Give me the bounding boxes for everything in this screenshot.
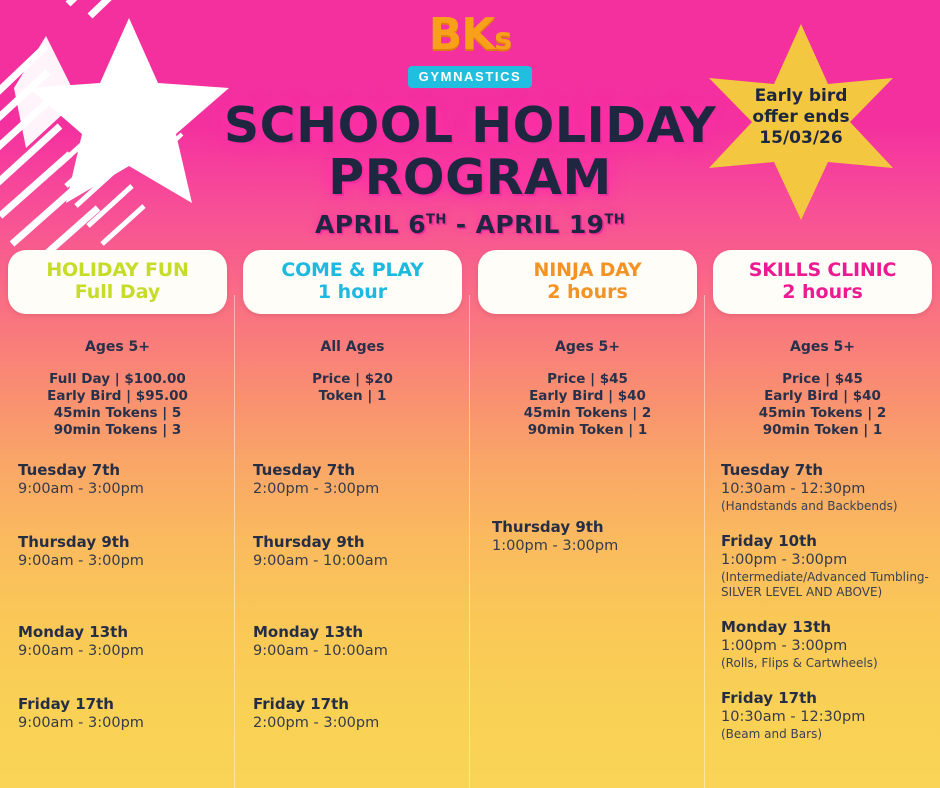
program-duration: 2 hours (719, 281, 926, 303)
session-schedule: Tuesday 7th10:30am - 12:30pm(Handstands … (713, 461, 932, 742)
session-date: Friday 17th (721, 689, 932, 708)
date-end-ordinal: TH (604, 213, 625, 228)
session-time: 2:00pm - 3:00pm (253, 480, 462, 499)
price-row: 45min Tokens | 2 (713, 405, 932, 422)
program-column: SKILLS CLINIC2 hoursAges 5+Price | $45Ea… (705, 250, 940, 788)
date-start: APRIL 6 (315, 210, 426, 239)
early-bird-line-3: 15/03/26 (706, 128, 896, 149)
session-date: Monday 13th (253, 623, 462, 642)
session-date: Thursday 9th (18, 533, 227, 552)
session-time: 1:00pm - 3:00pm (721, 637, 932, 656)
price-row: Price | $45 (713, 371, 932, 388)
pricing-block: Price | $20Token | 1 (243, 371, 462, 405)
poster-canvas: BKs GYMNASTICS SCHOOL HOLIDAY PROGRAM AP… (0, 0, 940, 788)
session-time: 1:00pm - 3:00pm (721, 551, 932, 570)
session-entry[interactable]: Tuesday 7th10:30am - 12:30pm(Handstands … (721, 461, 932, 514)
price-row: Early Bird | $95.00 (8, 388, 227, 405)
program-card-header[interactable]: COME & PLAY1 hour (243, 250, 462, 314)
session-time: 9:00am - 10:00am (253, 552, 462, 571)
program-title: HOLIDAY FUN (14, 259, 221, 281)
program-duration: 2 hours (484, 281, 691, 303)
logo-main-text: BK (429, 9, 495, 60)
session-time: 9:00am - 10:00am (253, 642, 462, 661)
session-entry[interactable]: Friday 10th1:00pm - 3:00pm(Intermediate/… (721, 532, 932, 600)
session-entry[interactable]: Tuesday 7th2:00pm - 3:00pm (253, 461, 462, 499)
session-note: (Beam and Bars) (721, 727, 932, 742)
session-entry[interactable]: Monday 13th1:00pm - 3:00pm(Rolls, Flips … (721, 618, 932, 671)
session-note: (Intermediate/Advanced Tumbling-SILVER L… (721, 570, 932, 600)
session-time: 9:00am - 3:00pm (18, 642, 227, 661)
pricing-block: Price | $45Early Bird | $4045min Tokens … (713, 371, 932, 439)
session-date: Tuesday 7th (721, 461, 932, 480)
session-time: 9:00am - 3:00pm (18, 714, 227, 733)
price-row: Token | 1 (243, 388, 462, 405)
age-requirement: All Ages (243, 339, 462, 355)
date-start-ordinal: TH (426, 213, 447, 228)
age-requirement: Ages 5+ (8, 339, 227, 355)
session-entry[interactable]: Friday 17th9:00am - 3:00pm (18, 695, 227, 733)
session-time: 9:00am - 3:00pm (18, 480, 227, 499)
session-entry[interactable]: Thursday 9th9:00am - 10:00am (253, 533, 462, 571)
early-bird-badge: Early bird offer ends 15/03/26 (706, 22, 896, 222)
session-time: 1:00pm - 3:00pm (492, 537, 697, 556)
program-duration: 1 hour (249, 281, 456, 303)
date-separator: - APRIL 19 (447, 210, 605, 239)
session-entry[interactable]: Monday 13th9:00am - 10:00am (253, 623, 462, 661)
program-column: NINJA DAY2 hoursAges 5+Price | $45Early … (470, 250, 705, 788)
session-entry[interactable]: Monday 13th9:00am - 3:00pm (18, 623, 227, 661)
program-card-header[interactable]: HOLIDAY FUNFull Day (8, 250, 227, 314)
program-column: COME & PLAY1 hourAll AgesPrice | $20Toke… (235, 250, 470, 788)
session-note: (Handstands and Backbends) (721, 499, 932, 514)
session-date: Friday 10th (721, 532, 932, 551)
session-date: Friday 17th (18, 695, 227, 714)
session-date: Tuesday 7th (253, 461, 462, 480)
pricing-block: Price | $45Early Bird | $4045min Tokens … (478, 371, 697, 439)
program-card-header[interactable]: NINJA DAY2 hours (478, 250, 697, 314)
price-row: 90min Token | 1 (713, 422, 932, 439)
session-date: Thursday 9th (492, 518, 697, 537)
session-entry[interactable]: Friday 17th10:30am - 12:30pm(Beam and Ba… (721, 689, 932, 742)
program-columns: HOLIDAY FUNFull DayAges 5+Full Day | $10… (0, 250, 940, 788)
session-schedule: Tuesday 7th9:00am - 3:00pmThursday 9th9:… (8, 461, 227, 733)
session-date: Monday 13th (721, 618, 932, 637)
age-requirement: Ages 5+ (478, 339, 697, 355)
logo-small-text: s (494, 22, 511, 57)
session-date: Tuesday 7th (18, 461, 227, 480)
price-row: 90min Token | 1 (478, 422, 697, 439)
session-date: Thursday 9th (253, 533, 462, 552)
program-duration: Full Day (14, 281, 221, 303)
session-date: Friday 17th (253, 695, 462, 714)
program-column: HOLIDAY FUNFull DayAges 5+Full Day | $10… (0, 250, 235, 788)
session-entry[interactable]: Thursday 9th1:00pm - 3:00pm (492, 518, 697, 556)
session-schedule: Tuesday 7th2:00pm - 3:00pmThursday 9th9:… (243, 461, 462, 733)
price-row: Early Bird | $40 (478, 388, 697, 405)
price-row: Early Bird | $40 (713, 388, 932, 405)
session-entry[interactable]: Friday 17th2:00pm - 3:00pm (253, 695, 462, 733)
program-title: COME & PLAY (249, 259, 456, 281)
session-time: 2:00pm - 3:00pm (253, 714, 462, 733)
pricing-block: Full Day | $100.00Early Bird | $95.0045m… (8, 371, 227, 439)
early-bird-line-1: Early bird (706, 86, 896, 107)
logo-banner-text: GYMNASTICS (408, 66, 533, 88)
age-requirement: Ages 5+ (713, 339, 932, 355)
price-row: 45min Tokens | 5 (8, 405, 227, 422)
price-row: Full Day | $100.00 (8, 371, 227, 388)
program-card-header[interactable]: SKILLS CLINIC2 hours (713, 250, 932, 314)
early-bird-line-2: offer ends (706, 107, 896, 128)
price-row: 90min Tokens | 3 (8, 422, 227, 439)
price-row: Price | $20 (243, 371, 462, 388)
session-time: 10:30am - 12:30pm (721, 708, 932, 727)
price-row: Price | $45 (478, 371, 697, 388)
early-bird-text: Early bird offer ends 15/03/26 (706, 86, 896, 149)
session-note: (Rolls, Flips & Cartwheels) (721, 656, 932, 671)
session-time: 10:30am - 12:30pm (721, 480, 932, 499)
session-time: 9:00am - 3:00pm (18, 552, 227, 571)
session-entry[interactable]: Thursday 9th9:00am - 3:00pm (18, 533, 227, 571)
program-title: SKILLS CLINIC (719, 259, 926, 281)
price-row: 45min Tokens | 2 (478, 405, 697, 422)
session-schedule: Thursday 9th1:00pm - 3:00pm (478, 518, 697, 556)
program-title: NINJA DAY (484, 259, 691, 281)
session-entry[interactable]: Tuesday 7th9:00am - 3:00pm (18, 461, 227, 499)
session-date: Monday 13th (18, 623, 227, 642)
